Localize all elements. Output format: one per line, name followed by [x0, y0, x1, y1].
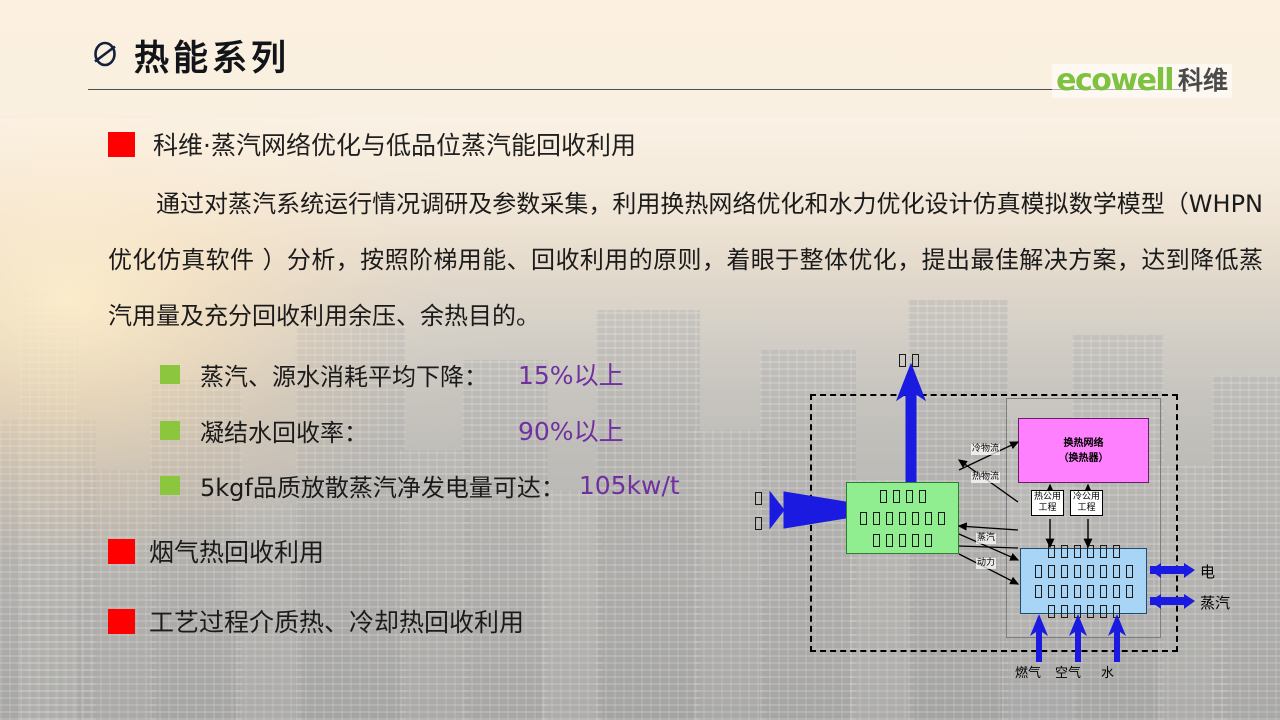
gas-input-label: 燃气	[1015, 662, 1041, 681]
water-input-label: 水	[1101, 662, 1114, 681]
process-unit-box	[846, 482, 959, 554]
metric-row-1: 蒸汽、源水消耗平均下降： 15%以上	[160, 356, 624, 392]
red-bullet-label: 工艺过程介质热、冷却热回收利用	[149, 603, 524, 639]
top-arrow-label	[896, 352, 922, 370]
ecowell-logo: ecowell 科维	[1052, 64, 1232, 98]
logo-chinese-name: 科维	[1178, 66, 1228, 96]
electricity-output-label: 电	[1200, 561, 1215, 582]
process-unit-label	[857, 488, 948, 549]
metric-row-2: 凝结水回收率： 90%以上	[160, 412, 624, 448]
cold-stream-label: 冷物流	[971, 444, 1000, 455]
metric-row-3: 5kgf品质放散蒸汽净发电量可达： 105kw/t	[160, 468, 680, 503]
header-divider	[88, 89, 1188, 90]
slash-circle-icon	[90, 40, 120, 70]
red-bullet-2: 工艺过程介质热、冷却热回收利用	[108, 603, 524, 639]
logo-wordmark: ecowell	[1056, 66, 1173, 96]
feed-left-arrow-icon	[770, 488, 850, 532]
green-square-bullet-icon	[160, 365, 180, 384]
metric-value: 15%以上	[518, 356, 624, 392]
page-title: 热能系列	[134, 30, 290, 81]
slide-canvas: 热能系列 ecowell 科维 科维·蒸汽网络优化与低品位蒸汽能回收利用 通过对…	[0, 0, 1280, 720]
gas-input-arrow-icon	[1029, 614, 1049, 662]
metric-value: 90%以上	[518, 412, 624, 448]
air-input-label: 空气	[1055, 662, 1081, 681]
red-square-bullet-icon	[108, 539, 135, 564]
heat-exchanger-network-box: 换热网络 （换热器）	[1018, 418, 1149, 483]
green-square-bullet-icon	[160, 476, 180, 495]
energy-system-diagram: 换热网络 （换热器） 冷物流 热物流	[748, 350, 1280, 720]
hot-stream-label: 热物流	[971, 472, 1000, 483]
hot-utility-label: 热公用 工程	[1031, 490, 1064, 516]
left-arrow-label	[752, 490, 762, 532]
red-bullet-label: 烟气热回收利用	[149, 533, 324, 569]
steam-label: 蒸汽	[976, 533, 996, 544]
red-square-bullet-icon	[108, 609, 135, 634]
power-label: 动力	[976, 558, 996, 569]
hen-label-line1: 换热网络	[1059, 436, 1109, 451]
section-heading: 科维·蒸汽网络优化与低品位蒸汽能回收利用	[108, 126, 636, 162]
exhaust-up-arrow-icon	[894, 364, 928, 490]
red-square-bullet-icon	[108, 132, 135, 157]
cold-utility-label: 冷公用 工程	[1070, 490, 1103, 516]
energy-center-label	[1032, 543, 1136, 620]
water-input-arrow-icon	[1107, 614, 1127, 662]
metric-value: 105kw/t	[579, 471, 680, 500]
energy-center-box	[1020, 548, 1147, 614]
body-paragraph: 通过对蒸汽系统运行情况调研及参数采集，利用换热网络优化和水力优化设计仿真模拟数学…	[108, 176, 1263, 344]
green-square-bullet-icon	[160, 421, 180, 440]
steam-output-label: 蒸汽	[1200, 592, 1230, 613]
metric-label: 5kgf品质放散蒸汽净发电量可达：	[200, 468, 565, 503]
hen-label-line2: （换热器）	[1059, 451, 1109, 466]
air-input-arrow-icon	[1068, 614, 1088, 662]
metric-label: 蒸汽、源水消耗平均下降：	[200, 357, 488, 392]
electricity-out-arrow-icon	[1150, 563, 1196, 579]
metric-label: 凝结水回收率：	[200, 413, 368, 448]
section-heading-label: 科维·蒸汽网络优化与低品位蒸汽能回收利用	[153, 126, 636, 162]
steam-out-arrow-icon	[1150, 594, 1196, 610]
red-bullet-1: 烟气热回收利用	[108, 533, 324, 569]
steam-power-connector-arrows	[953, 510, 1023, 590]
